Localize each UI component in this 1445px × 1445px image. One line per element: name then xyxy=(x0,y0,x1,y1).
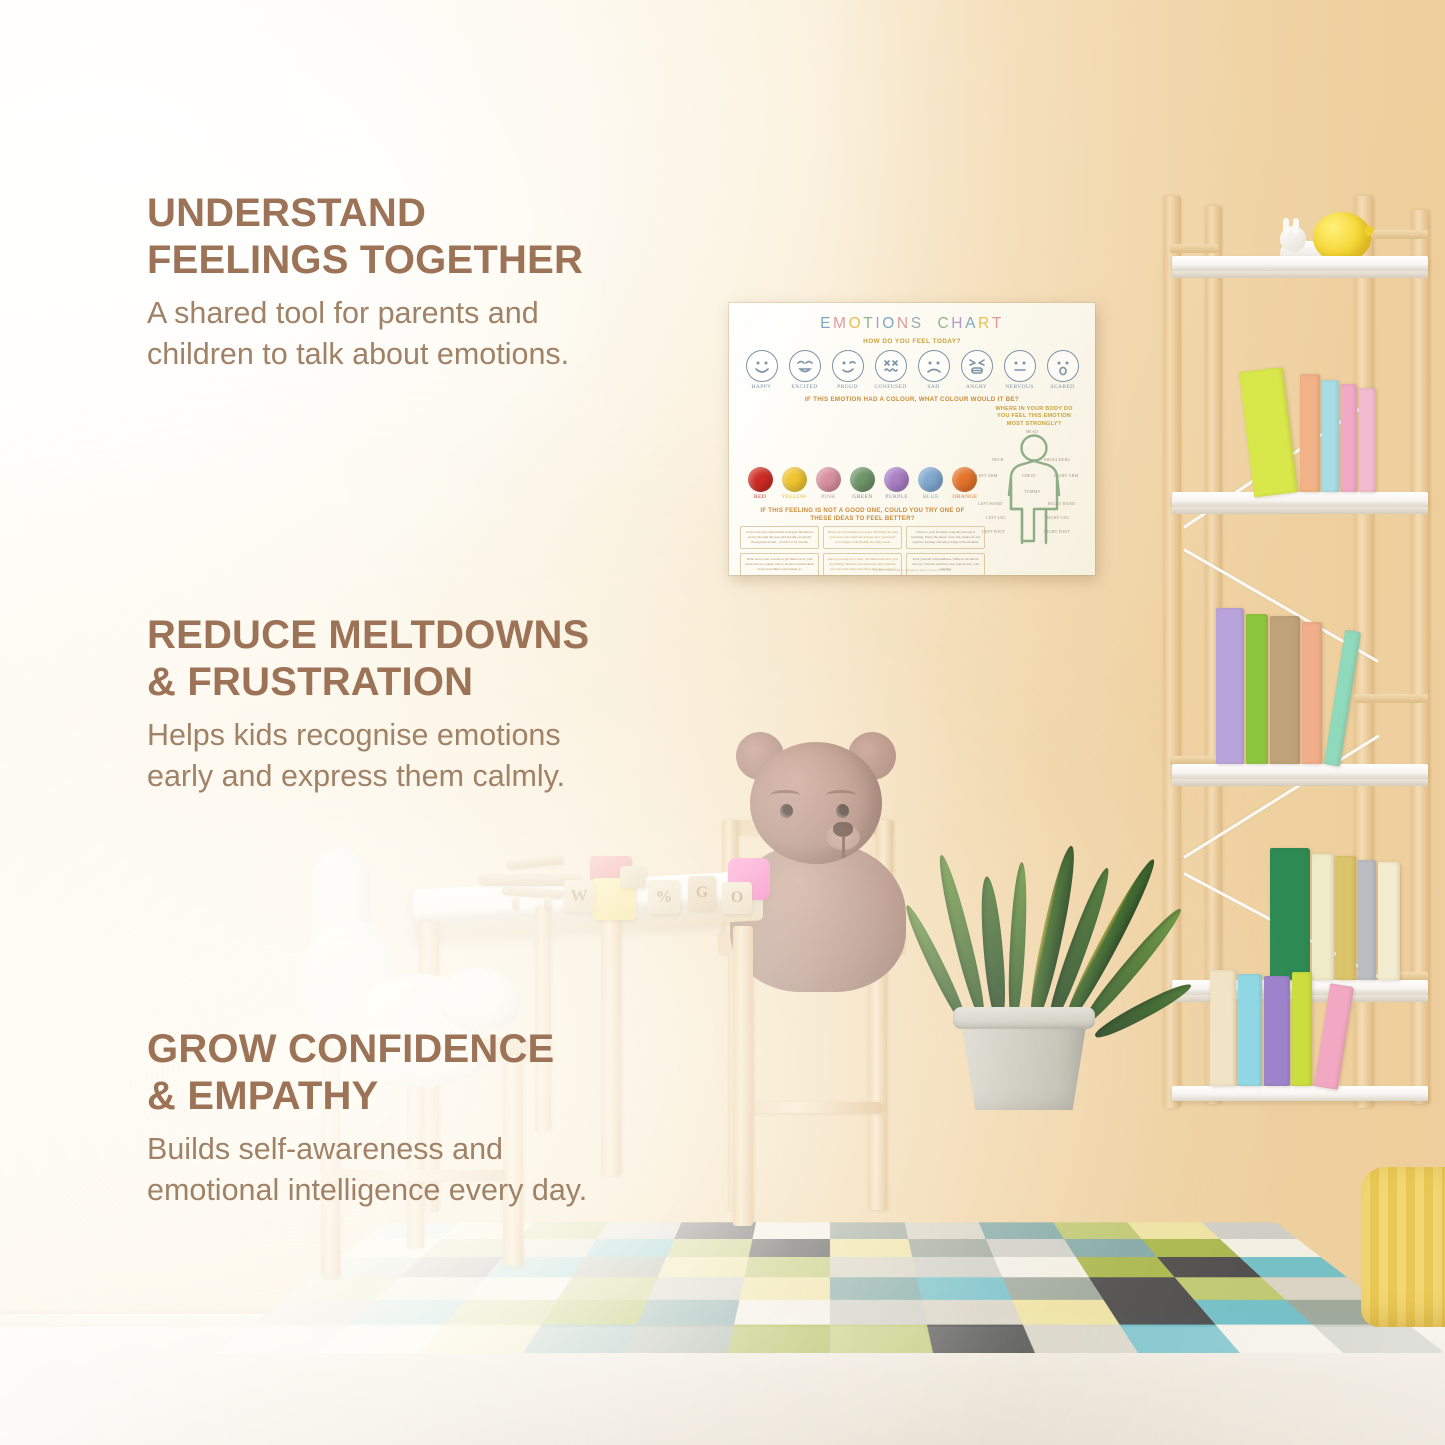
shelf-board-2 xyxy=(1172,492,1428,507)
colour-question: IF THIS EMOTION HAD A COLOUR, WHAT COLOU… xyxy=(740,396,1084,403)
poster-title-letter: R xyxy=(978,316,992,332)
rug-tile xyxy=(466,1277,571,1299)
feature-title-3-line-1: GROW CONFIDENCE xyxy=(147,1027,554,1071)
colour-option-red[interactable]: RED xyxy=(744,467,776,500)
rug-tile xyxy=(904,1222,985,1239)
poster-title-letter: O xyxy=(882,316,897,332)
feature-body-1-line-1: A shared tool for parents and xyxy=(147,296,539,330)
colour-label: PINK xyxy=(812,494,844,500)
rug-tile xyxy=(596,1222,681,1239)
body-label-right-foot[interactable]: RIGHT FOOT xyxy=(1044,529,1070,534)
alphabet-block-o: O xyxy=(722,882,752,914)
rug-tile xyxy=(830,1300,926,1325)
feature-title-3-line-2: & EMPATHY xyxy=(147,1074,378,1118)
poster-title-letter: H xyxy=(951,316,965,332)
feature-title-2-line-1: REDUCE MELTDOWNS xyxy=(147,613,589,657)
book xyxy=(1359,388,1376,492)
rug-tile xyxy=(908,1239,994,1257)
book xyxy=(1270,848,1310,980)
poster-title-letter: O xyxy=(849,316,864,332)
emotion-face-icon xyxy=(832,350,864,382)
colour-label: YELLOW xyxy=(778,494,810,500)
colour-swatches-row: REDYELLOWPINKGREENPURPLEBLUEORANGE xyxy=(744,467,981,500)
rug-tile xyxy=(830,1222,908,1239)
coping-tip: Listen to your favourite song like nobod… xyxy=(906,526,985,549)
emotion-happy[interactable]: HAPPY xyxy=(742,350,781,391)
feature-body-2-line-2: early and express them calmly. xyxy=(147,759,565,793)
emotions-chart-poster: EMOTIONS CHART HOW DO YOU FEEL TODAY? HA… xyxy=(729,303,1095,575)
book xyxy=(1358,860,1376,980)
emotion-confused[interactable]: CONFUSED xyxy=(871,350,910,391)
rug-tile xyxy=(1053,1222,1142,1239)
wooden-block-small xyxy=(620,866,646,888)
rug-tile xyxy=(557,1277,658,1299)
feature-body-1-line-2: children to talk about emotions. xyxy=(147,337,569,371)
book-group-4 xyxy=(1210,966,1338,1086)
shelf-board-1 xyxy=(1172,256,1428,271)
body-label-left-leg[interactable]: LEFT LEG xyxy=(986,515,1006,520)
book xyxy=(1336,856,1356,980)
emotion-face-icon xyxy=(875,350,907,382)
body-heading-line-3: MOST STRONGLY? xyxy=(982,421,1086,428)
rug-tile xyxy=(979,1222,1064,1239)
rug-tile xyxy=(585,1239,675,1257)
poster-subtitle: HOW DO YOU FEEL TODAY? xyxy=(740,338,1084,345)
body-label-shoulders[interactable]: SHOULDERS xyxy=(1044,457,1070,462)
emotion-label: ANGRY xyxy=(957,384,996,390)
shelf-board-5 xyxy=(1172,1086,1428,1101)
emotion-scared[interactable]: SCARED xyxy=(1043,350,1082,391)
book xyxy=(1322,380,1339,492)
book xyxy=(1378,862,1400,980)
emotion-nervous[interactable]: NERVOUS xyxy=(1000,350,1039,391)
book-group-2 xyxy=(1216,606,1340,764)
emotion-sad[interactable]: SAD xyxy=(914,350,953,391)
rug-tile xyxy=(986,1239,1076,1257)
feature-block-1: UNDERSTAND FEELINGS TOGETHER A shared to… xyxy=(147,190,707,374)
feature-title-1-line-2: FEELINGS TOGETHER xyxy=(147,238,583,282)
emotion-face-icon xyxy=(1047,350,1079,382)
feature-title-3: GROW CONFIDENCE & EMPATHY xyxy=(147,1026,727,1120)
rug-tile xyxy=(734,1300,830,1325)
rug-tile xyxy=(739,1277,830,1299)
body-label-tummy[interactable]: TUMMY xyxy=(1024,489,1041,494)
rug-tile xyxy=(444,1300,557,1325)
body-label-right-hand[interactable]: RIGHT HAND xyxy=(1048,501,1075,506)
colour-swatch xyxy=(782,467,807,492)
poster-title-letter: I xyxy=(875,316,882,332)
emotion-label: SAD xyxy=(914,384,953,390)
book-group-1 xyxy=(1254,364,1376,492)
emotion-proud[interactable]: PROUD xyxy=(828,350,867,391)
body-label-right-leg[interactable]: RIGHT LEG xyxy=(1046,515,1069,520)
emotion-label: PROUD xyxy=(828,384,867,390)
feature-body-3-line-1: Builds self-awareness and xyxy=(147,1132,503,1166)
colour-swatch xyxy=(850,467,875,492)
colour-swatch xyxy=(884,467,909,492)
colour-label: ORANGE xyxy=(949,494,981,500)
emotion-excited[interactable]: EXCITED xyxy=(785,350,824,391)
book xyxy=(1302,622,1322,764)
block-letter: G xyxy=(688,876,716,910)
rug-tile xyxy=(830,1277,921,1299)
colour-option-blue[interactable]: BLUE xyxy=(915,467,947,500)
feature-body-2-line-1: Helps kids recognise emotions xyxy=(147,718,561,752)
body-heading-line-2: YOU FEEL THIS EMOTION xyxy=(982,413,1086,420)
colour-label: GREEN xyxy=(846,494,878,500)
book xyxy=(1246,614,1268,764)
emotion-angry[interactable]: ANGRY xyxy=(957,350,996,391)
book xyxy=(1216,608,1244,764)
tips-heading-line-1: IF THIS FEELING IS NOT A GOOD ONE, COULD… xyxy=(740,507,985,515)
emotion-face-icon xyxy=(1004,350,1036,382)
emotion-label: HAPPY xyxy=(742,384,781,390)
colour-swatch xyxy=(952,467,977,492)
poster-title-letter: S xyxy=(911,316,924,332)
body-figure: HEADNECKSHOULDERSLEFT ARMCHESTRIGHT ARMT… xyxy=(982,431,1086,547)
book xyxy=(1312,854,1334,980)
colour-swatch xyxy=(816,467,841,492)
poster-title-letter: T xyxy=(863,316,875,332)
book xyxy=(1239,367,1298,497)
poster-title-letter: N xyxy=(897,316,911,332)
colour-label: PURPLE xyxy=(881,494,913,500)
block-letter: % xyxy=(648,880,680,914)
rug-tile xyxy=(666,1239,752,1257)
colour-option-pink[interactable]: PINK xyxy=(812,467,844,500)
tips-row-top: Close your eyes and breathe in deeply. B… xyxy=(740,526,985,549)
rug-tile xyxy=(748,1239,830,1257)
feature-title-2: REDUCE MELTDOWNS & FRUSTRATION xyxy=(147,612,727,706)
rug-tile xyxy=(752,1222,830,1239)
body-map-panel: WHERE IN YOUR BODY DO YOU FEEL THIS EMOT… xyxy=(982,406,1086,547)
body-label-chest[interactable]: CHEST xyxy=(1022,473,1036,478)
feature-body-1: A shared tool for parents and children t… xyxy=(147,293,707,374)
shelf-post-right-back xyxy=(1412,210,1430,1104)
poster-title-letter: C xyxy=(937,316,951,332)
body-heading-line-1: WHERE IN YOUR BODY DO xyxy=(982,406,1086,413)
rug-tile xyxy=(994,1257,1089,1277)
colour-option-purple[interactable]: PURPLE xyxy=(881,467,913,500)
tips-heading-line-2: THESE IDEAS TO FEEL BETTER? xyxy=(740,515,985,523)
room-scene: W % G O EMOTIONS CHART HOW DO YOU FEEL T… xyxy=(0,0,1445,1445)
rug-tile xyxy=(1012,1300,1119,1325)
poster-title-letter: E xyxy=(820,316,833,332)
colour-option-yellow[interactable]: YELLOW xyxy=(778,467,810,500)
colour-option-green[interactable]: GREEN xyxy=(846,467,878,500)
feature-body-3-line-2: emotional intelligence every day. xyxy=(147,1173,587,1207)
book xyxy=(1292,972,1312,1086)
body-label-neck[interactable]: NECK xyxy=(992,457,1004,462)
book xyxy=(1270,616,1300,764)
feature-body-3: Builds self-awareness and emotional inte… xyxy=(147,1129,727,1210)
rug-tile xyxy=(541,1300,648,1325)
poster-title: EMOTIONS CHART xyxy=(740,316,1084,332)
alphabet-block-w: W xyxy=(564,880,594,912)
book xyxy=(1238,974,1262,1086)
book xyxy=(1314,983,1354,1089)
lemon-figurine xyxy=(1313,212,1371,262)
coping-tip: Close your eyes and breathe in deeply. B… xyxy=(740,526,819,549)
book xyxy=(1264,976,1290,1086)
alphabet-block-percent: % xyxy=(648,880,680,914)
bookshelf xyxy=(1158,196,1445,1108)
snake-plant xyxy=(938,832,1148,1112)
colour-label: RED xyxy=(744,494,776,500)
rug-tile xyxy=(572,1257,667,1277)
poster-title-letter: T xyxy=(992,316,1004,332)
book xyxy=(1300,374,1320,492)
rug-tile xyxy=(912,1257,1003,1277)
poster-copyright: © LDK London 2024 | Designed and printed… xyxy=(729,568,1095,572)
rug-tile xyxy=(916,1277,1012,1299)
body-label-head[interactable]: HEAD xyxy=(1026,429,1038,434)
rug-tile xyxy=(658,1257,749,1277)
emotion-face-icon xyxy=(961,350,993,382)
rug-tile xyxy=(830,1239,912,1257)
emotion-face-icon xyxy=(918,350,950,382)
feature-block-3: GROW CONFIDENCE & EMPATHY Builds self-aw… xyxy=(147,1026,727,1210)
emotion-label: NERVOUS xyxy=(1000,384,1039,390)
rug-tile xyxy=(830,1257,916,1277)
book xyxy=(1341,384,1357,492)
body-label-right-arm[interactable]: RIGHT ARM xyxy=(1054,473,1078,478)
emotion-faces-row: HAPPYEXCITEDPROUDCONFUSEDSADANGRYNERVOUS… xyxy=(742,350,1082,391)
body-label-left-arm[interactable]: LEFT ARM xyxy=(976,473,997,478)
body-label-left-foot[interactable]: LEFT FOOT xyxy=(982,529,1005,534)
emotion-face-icon xyxy=(746,350,778,382)
body-label-left-hand[interactable]: LEFT HAND xyxy=(978,501,1002,506)
block-letter: W xyxy=(564,880,594,912)
colour-swatch xyxy=(748,467,773,492)
rug-tile xyxy=(744,1257,830,1277)
book xyxy=(1210,970,1236,1086)
feature-block-2: REDUCE MELTDOWNS & FRUSTRATION Helps kid… xyxy=(147,612,727,796)
shelf-post-left xyxy=(1164,196,1181,1108)
emotion-label: SCARED xyxy=(1043,384,1082,390)
feature-title-1: UNDERSTAND FEELINGS TOGETHER xyxy=(147,190,707,284)
yellow-pouffe xyxy=(1361,1167,1445,1327)
alphabet-block-g: G xyxy=(688,876,716,910)
coping-tip: Think out your emotion on paper. Drawing… xyxy=(823,526,902,549)
feature-title-2-line-2: & FRUSTRATION xyxy=(147,660,473,704)
colour-swatch xyxy=(918,467,943,492)
emotion-face-icon xyxy=(789,350,821,382)
book-group-3 xyxy=(1270,846,1400,980)
poster-title-letter: M xyxy=(833,316,849,332)
shelf-board-3 xyxy=(1172,764,1428,779)
feature-body-2: Helps kids recognise emotions early and … xyxy=(147,715,727,796)
rug-tile xyxy=(648,1277,744,1299)
emotion-label: EXCITED xyxy=(785,384,824,390)
rug-tile xyxy=(1002,1277,1103,1299)
floor-sheen xyxy=(0,1327,1445,1445)
poster-title-letter: A xyxy=(965,316,978,332)
feature-title-1-line-1: UNDERSTAND xyxy=(147,191,426,235)
rug-tile xyxy=(921,1300,1023,1325)
emotion-label: CONFUSED xyxy=(871,384,910,390)
colour-label: BLUE xyxy=(915,494,947,500)
poster-title-letter xyxy=(924,316,938,332)
rug-tile xyxy=(637,1300,739,1325)
block-letter: O xyxy=(722,882,752,914)
